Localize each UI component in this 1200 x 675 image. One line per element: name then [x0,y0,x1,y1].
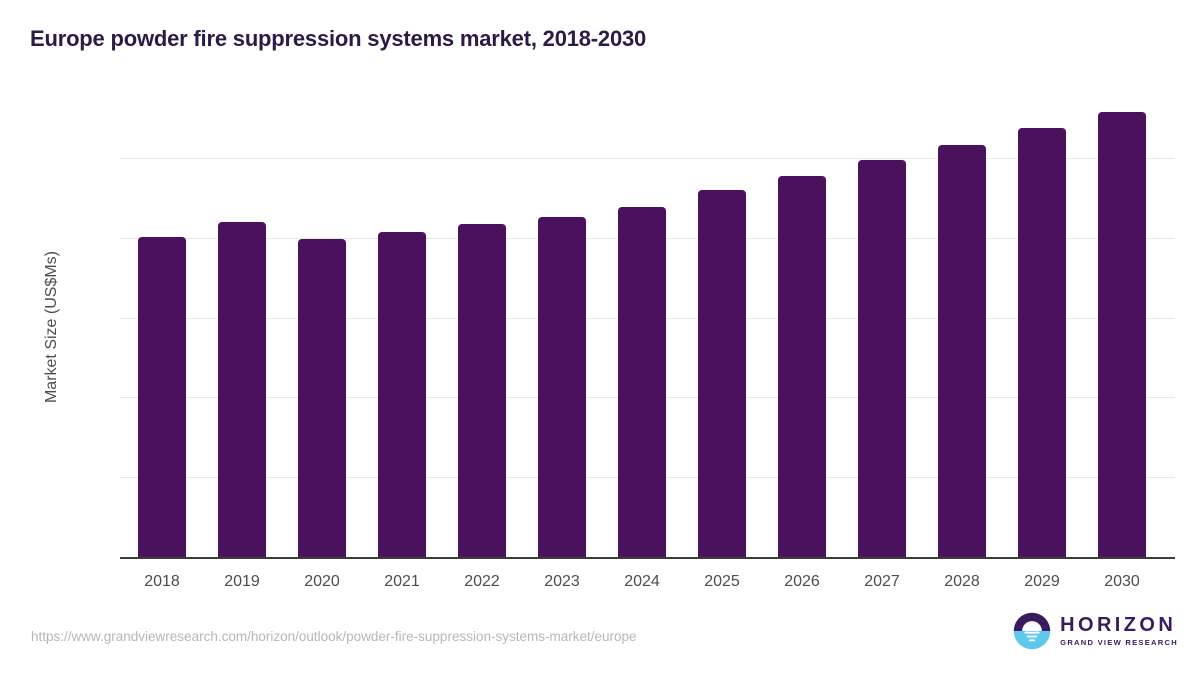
logo-tagline: GRAND VIEW RESEARCH [1060,639,1178,647]
logo-wordmark: HORIZON [1060,615,1178,635]
x-axis-tick-label: 2022 [442,573,522,591]
x-axis-tick-label: 2019 [202,573,282,591]
bar[interactable] [538,217,586,558]
x-axis-tick-label: 2025 [682,573,762,591]
bar[interactable] [858,160,906,558]
x-axis-tick-label: 2018 [122,573,202,591]
x-axis-tick-label: 2026 [762,573,842,591]
bar[interactable] [458,224,506,558]
x-axis-tick-label: 2028 [922,573,1002,591]
bar[interactable] [218,222,266,558]
x-axis-tick-label: 2024 [602,573,682,591]
bar[interactable] [138,237,186,558]
bar[interactable] [698,190,746,558]
source-url[interactable]: https://www.grandviewresearch.com/horizo… [31,629,637,644]
x-axis-tick-label: 2030 [1082,573,1162,591]
x-axis-tick-label: 2027 [842,573,922,591]
bars [120,95,1175,558]
bar[interactable] [378,232,426,558]
x-axis-tick-label: 2020 [282,573,362,591]
horizon-logo[interactable]: HORIZON GRAND VIEW RESEARCH [1013,612,1178,650]
x-axis-tick-label: 2021 [362,573,442,591]
bar[interactable] [298,239,346,558]
bar[interactable] [1018,128,1066,558]
bar[interactable] [938,145,986,558]
page-title: Europe powder fire suppression systems m… [30,26,646,52]
bar[interactable] [778,176,826,558]
horizon-logo-icon [1013,612,1051,650]
x-axis-tick-label: 2023 [522,573,602,591]
bar[interactable] [1098,112,1146,558]
chart-canvas: Europe powder fire suppression systems m… [0,0,1200,675]
horizon-logo-text: HORIZON GRAND VIEW RESEARCH [1060,615,1178,647]
bar[interactable] [618,207,666,558]
x-axis-line [120,557,1175,559]
plot-area: Market Size (US$Ms) 025050075010001250 2… [120,95,1175,558]
y-axis-title: Market Size (US$Ms) [43,250,61,402]
x-axis-tick-label: 2029 [1002,573,1082,591]
